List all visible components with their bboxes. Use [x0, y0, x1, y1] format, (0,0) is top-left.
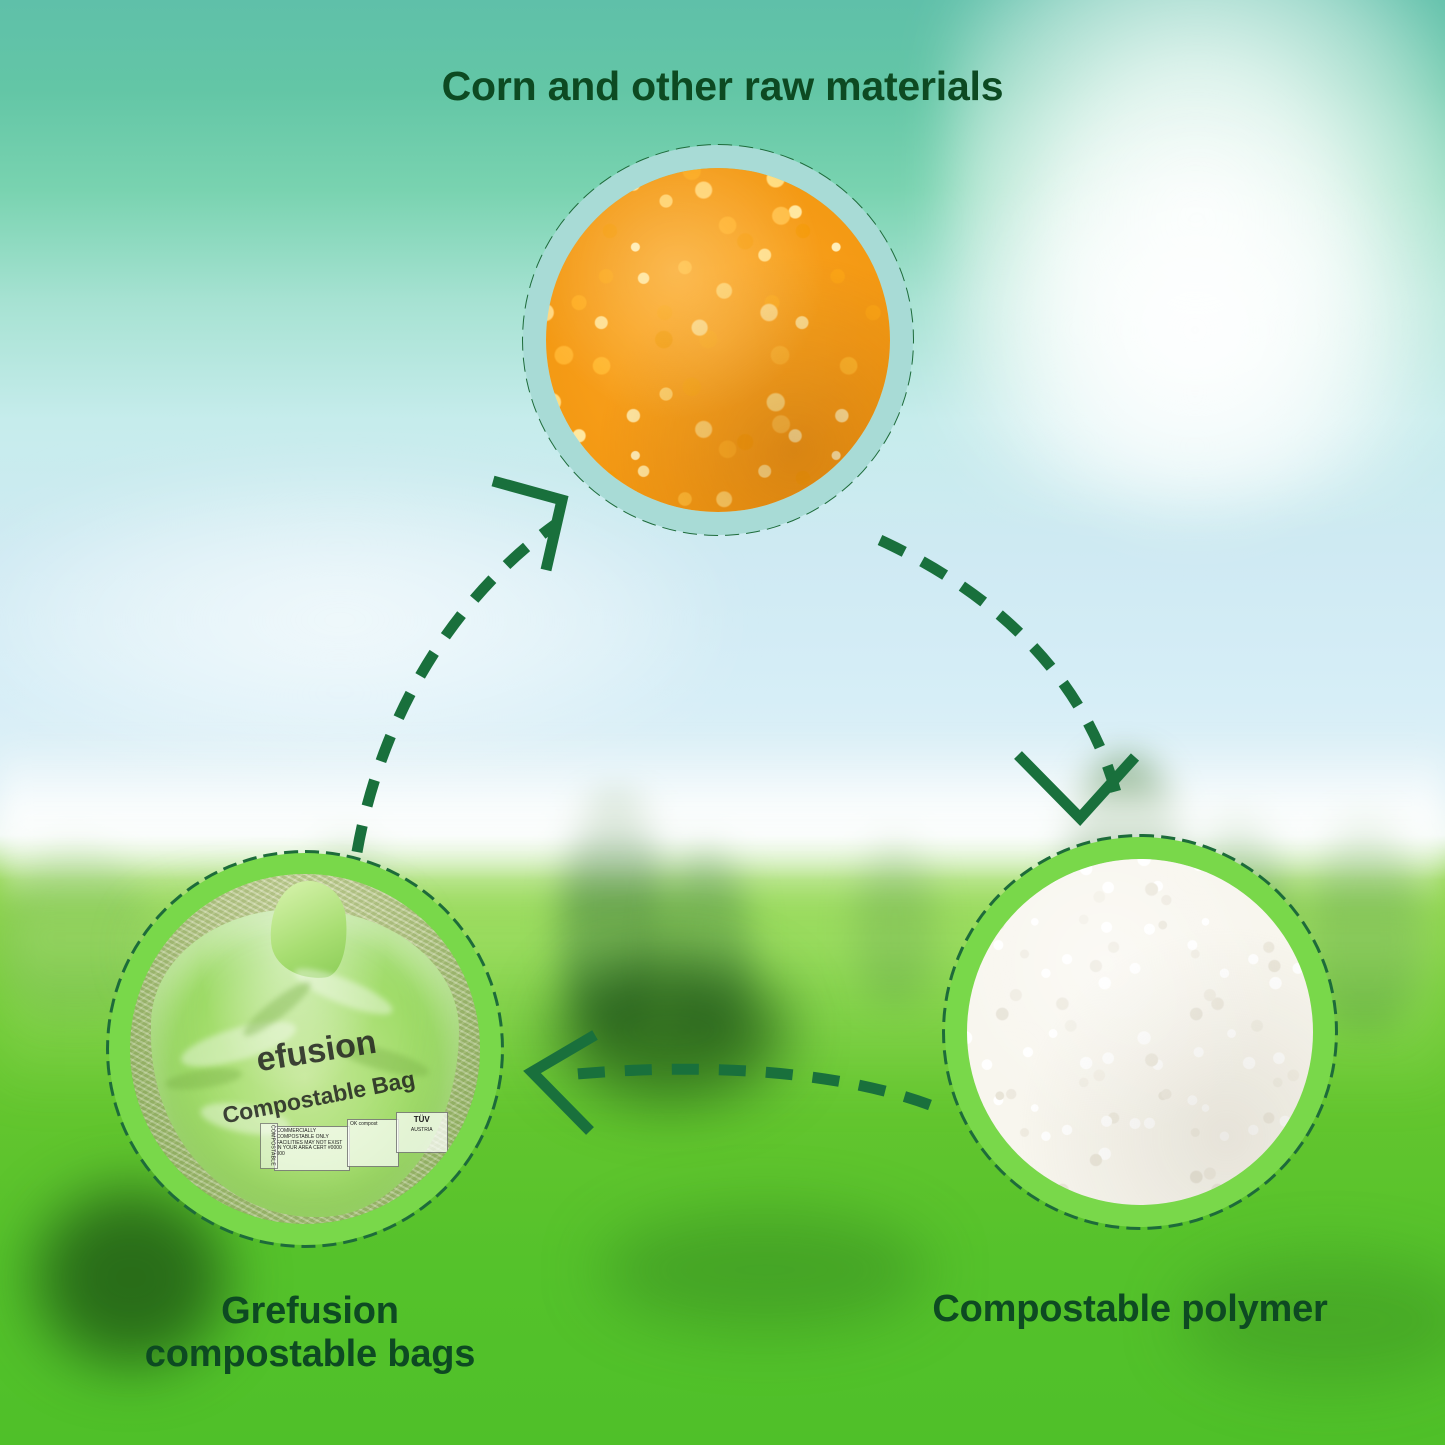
bag-cert-tuv: TÜV AUSTRIA	[396, 1112, 448, 1153]
node-bags[interactable]: efusion Compostable Bag COMMERCIALLY COM…	[106, 850, 504, 1248]
corn-photo	[546, 168, 890, 512]
polymer-photo	[967, 859, 1313, 1205]
label-bags-line2: compostable bags	[145, 1333, 475, 1375]
infographic-canvas: efusion Compostable Bag COMMERCIALLY COM…	[0, 0, 1445, 1445]
bag-cert-side: COMPOSTABLE	[260, 1123, 278, 1169]
arrow-polymer-to-bags	[532, 1035, 930, 1131]
tuv-line2: AUSTRIA	[411, 1127, 433, 1133]
node-polymer[interactable]	[942, 834, 1338, 1230]
label-polymer: Compostable polymer	[840, 1288, 1420, 1331]
label-bags: Grefusion compostable bags	[30, 1290, 590, 1375]
page-title: Corn and other raw materials	[0, 64, 1445, 110]
arrow-bags-to-corn	[357, 481, 562, 852]
polymer-shading	[967, 859, 1313, 1205]
bag-cert-block: COMMERCIALLY COMPOSTABLE ONLY FACILITIES…	[274, 1126, 350, 1171]
label-bags-line1: Grefusion	[221, 1290, 399, 1332]
node-corn[interactable]	[522, 144, 914, 536]
bag-cert-ok-compost: OK compost	[347, 1119, 399, 1167]
bags-photo: efusion Compostable Bag COMMERCIALLY COM…	[130, 874, 480, 1224]
arrow-corn-to-polymer	[880, 540, 1135, 818]
corn-shading	[546, 168, 890, 512]
tuv-line1: TÜV	[414, 1115, 430, 1124]
